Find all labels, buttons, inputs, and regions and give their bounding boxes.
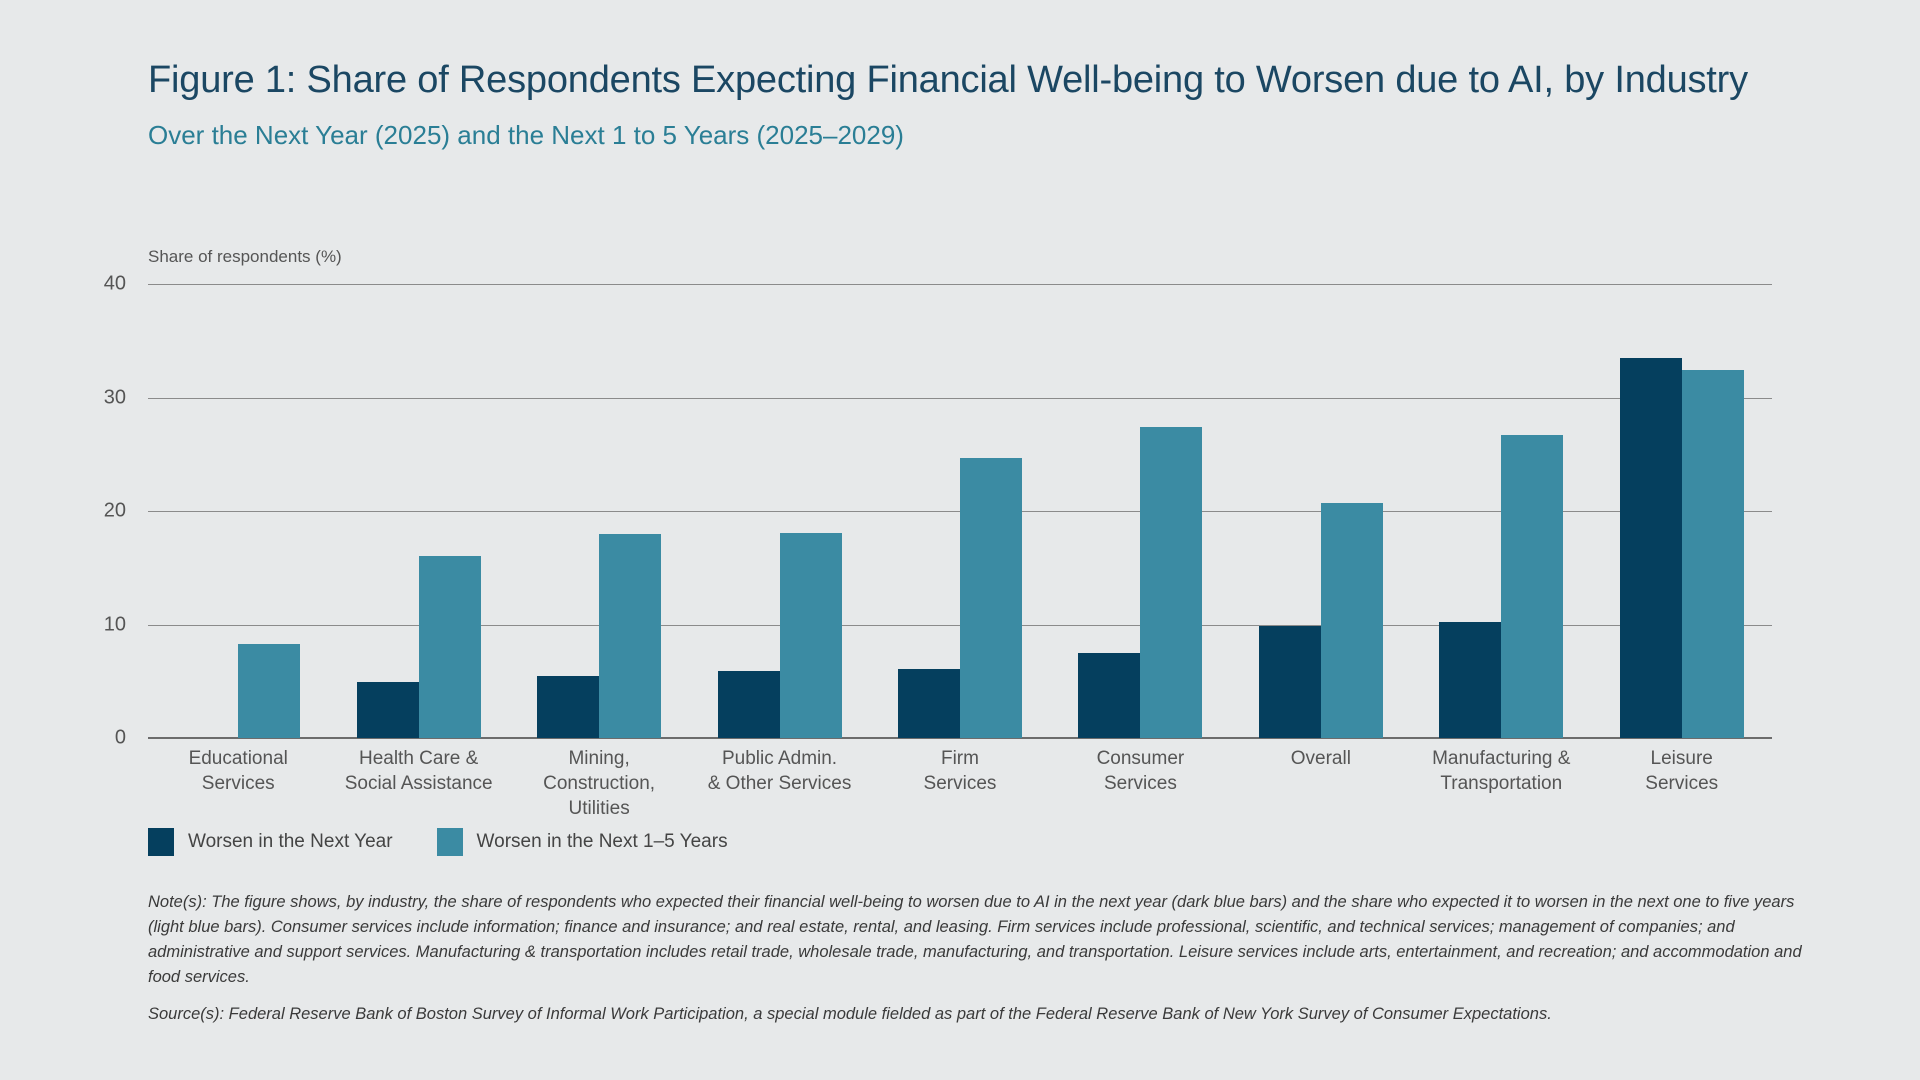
x-axis-label-line: Consumer: [1054, 746, 1226, 771]
chart-legend: Worsen in the Next YearWorsen in the Nex…: [148, 828, 728, 856]
x-axis-label-line: Mining,: [513, 746, 685, 771]
bar-group: [1411, 284, 1591, 738]
x-axis-label: LeisureServices: [1592, 746, 1772, 821]
bar-next-1-5-years[interactable]: [599, 534, 661, 738]
bar-next-1-5-years[interactable]: [1682, 370, 1744, 738]
x-axis-label-line: Firm: [874, 746, 1046, 771]
bar-next-year[interactable]: [1259, 626, 1321, 738]
x-axis-label: Overall: [1231, 746, 1411, 821]
bar-next-1-5-years[interactable]: [238, 644, 300, 738]
bar-next-year[interactable]: [1620, 358, 1682, 738]
bar-group: [1231, 284, 1411, 738]
figure-notes: Note(s): The figure shows, by industry, …: [148, 890, 1808, 1027]
x-axis-label-line: Services: [1596, 771, 1768, 796]
x-axis-label-line: Manufacturing &: [1415, 746, 1587, 771]
bar-group: [1050, 284, 1230, 738]
x-axis-label-line: Educational: [152, 746, 324, 771]
x-axis-label-line: Services: [874, 771, 1046, 796]
x-axis-label-line: Social Assistance: [332, 771, 504, 796]
legend-swatch-icon: [437, 828, 463, 856]
x-axis-label: Public Admin.& Other Services: [689, 746, 869, 821]
bar-group: [148, 284, 328, 738]
bar-next-1-5-years[interactable]: [960, 458, 1022, 738]
bar-next-1-5-years[interactable]: [419, 556, 481, 738]
x-axis-label: Mining,Construction,Utilities: [509, 746, 689, 821]
x-axis-label: Health Care &Social Assistance: [328, 746, 508, 821]
bar-group: [689, 284, 869, 738]
x-axis-labels: EducationalServicesHealth Care &Social A…: [148, 746, 1772, 821]
legend-label: Worsen in the Next 1–5 Years: [477, 831, 728, 853]
x-axis-label-line: Services: [1054, 771, 1226, 796]
x-axis-label-line: Utilities: [513, 796, 685, 821]
y-tick-label-30: 30: [78, 386, 126, 409]
y-axis-label: Share of respondents (%): [148, 247, 342, 267]
title-block: Figure 1: Share of Respondents Expecting…: [148, 56, 1788, 152]
x-axis-label: ConsumerServices: [1050, 746, 1230, 821]
bar-next-year[interactable]: [1078, 653, 1140, 738]
figure-subtitle: Over the Next Year (2025) and the Next 1…: [148, 119, 1788, 153]
x-axis-label-line: Leisure: [1596, 746, 1768, 771]
legend-swatch-icon: [148, 828, 174, 856]
bar-next-year[interactable]: [718, 671, 780, 738]
bar-next-1-5-years[interactable]: [780, 533, 842, 738]
bar-next-1-5-years[interactable]: [1501, 435, 1563, 738]
bar-group: [328, 284, 508, 738]
bar-group: [870, 284, 1050, 738]
x-axis-label: Manufacturing &Transportation: [1411, 746, 1591, 821]
bar-next-year[interactable]: [1439, 622, 1501, 738]
bar-group: [1592, 284, 1772, 738]
x-axis-label-line: & Other Services: [693, 771, 865, 796]
bar-next-1-5-years[interactable]: [1321, 503, 1383, 738]
chart-plot-area: 010203040: [148, 284, 1772, 738]
bar-next-year[interactable]: [537, 676, 599, 738]
notes-paragraph: Note(s): The figure shows, by industry, …: [148, 890, 1808, 990]
legend-label: Worsen in the Next Year: [188, 831, 393, 853]
page-title: Figure 1: Share of Respondents Expecting…: [148, 56, 1788, 105]
y-tick-label-20: 20: [78, 500, 126, 523]
x-axis-label-line: Transportation: [1415, 771, 1587, 796]
x-axis-label: FirmServices: [870, 746, 1050, 821]
x-axis-label-line: Health Care &: [332, 746, 504, 771]
bar-next-year[interactable]: [357, 682, 419, 738]
bar-group: [509, 284, 689, 738]
bar-next-1-5-years[interactable]: [1140, 427, 1202, 738]
x-axis-label-line: Services: [152, 771, 324, 796]
bar-groups: [148, 284, 1772, 738]
source-paragraph: Source(s): Federal Reserve Bank of Bosto…: [148, 1002, 1808, 1027]
x-axis-label-line: Overall: [1235, 746, 1407, 771]
y-tick-label-10: 10: [78, 613, 126, 636]
bar-next-year[interactable]: [898, 669, 960, 738]
legend-item[interactable]: Worsen in the Next Year: [148, 828, 393, 856]
x-axis-label: EducationalServices: [148, 746, 328, 821]
figure-container: Figure 1: Share of Respondents Expecting…: [0, 0, 1920, 1080]
x-axis-label-line: Public Admin.: [693, 746, 865, 771]
legend-item[interactable]: Worsen in the Next 1–5 Years: [437, 828, 728, 856]
y-tick-label-40: 40: [78, 273, 126, 296]
y-tick-label-0: 0: [78, 727, 126, 750]
x-axis-label-line: Construction,: [513, 771, 685, 796]
